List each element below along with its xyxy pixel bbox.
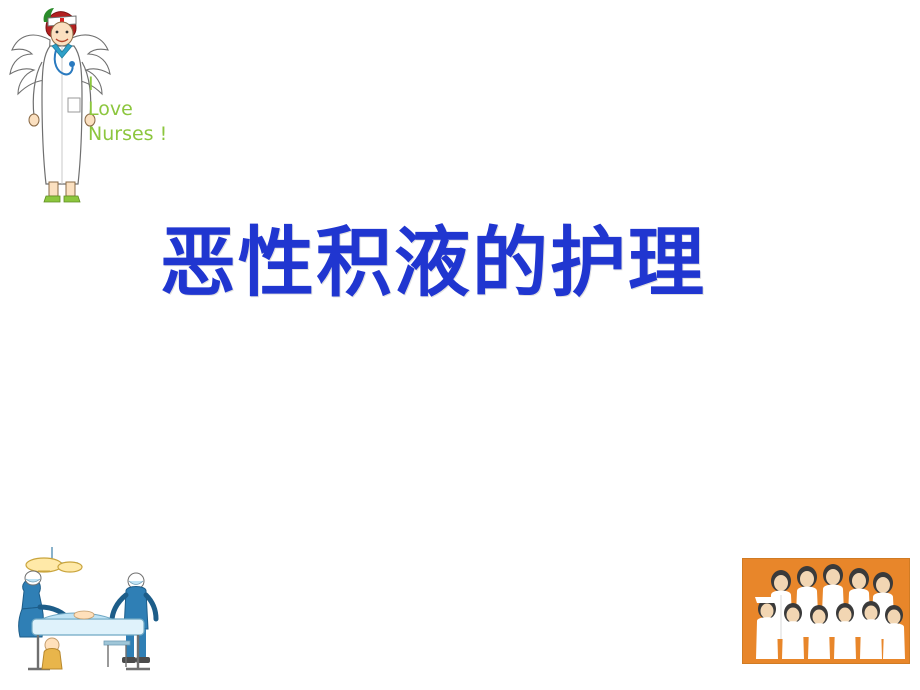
slide-canvas: I Love Nurses ! 恶性积液的护理 [0,0,920,690]
slide-title: 恶性积液的护理 [160,222,800,306]
nurse-group-icon [743,559,909,661]
nurse-angel-clipart: I Love Nurses ! [6,6,176,206]
nurse-angel-caption: I Love Nurses ! [88,72,174,147]
nurse-group-photo-clipart [742,558,910,664]
surgery-scene-icon [8,545,168,685]
caption-line-3: Nurses ! [88,122,174,147]
caption-line-2: Love [88,97,174,122]
caption-line-1: I [88,72,174,97]
operating-room-clipart [8,545,168,680]
